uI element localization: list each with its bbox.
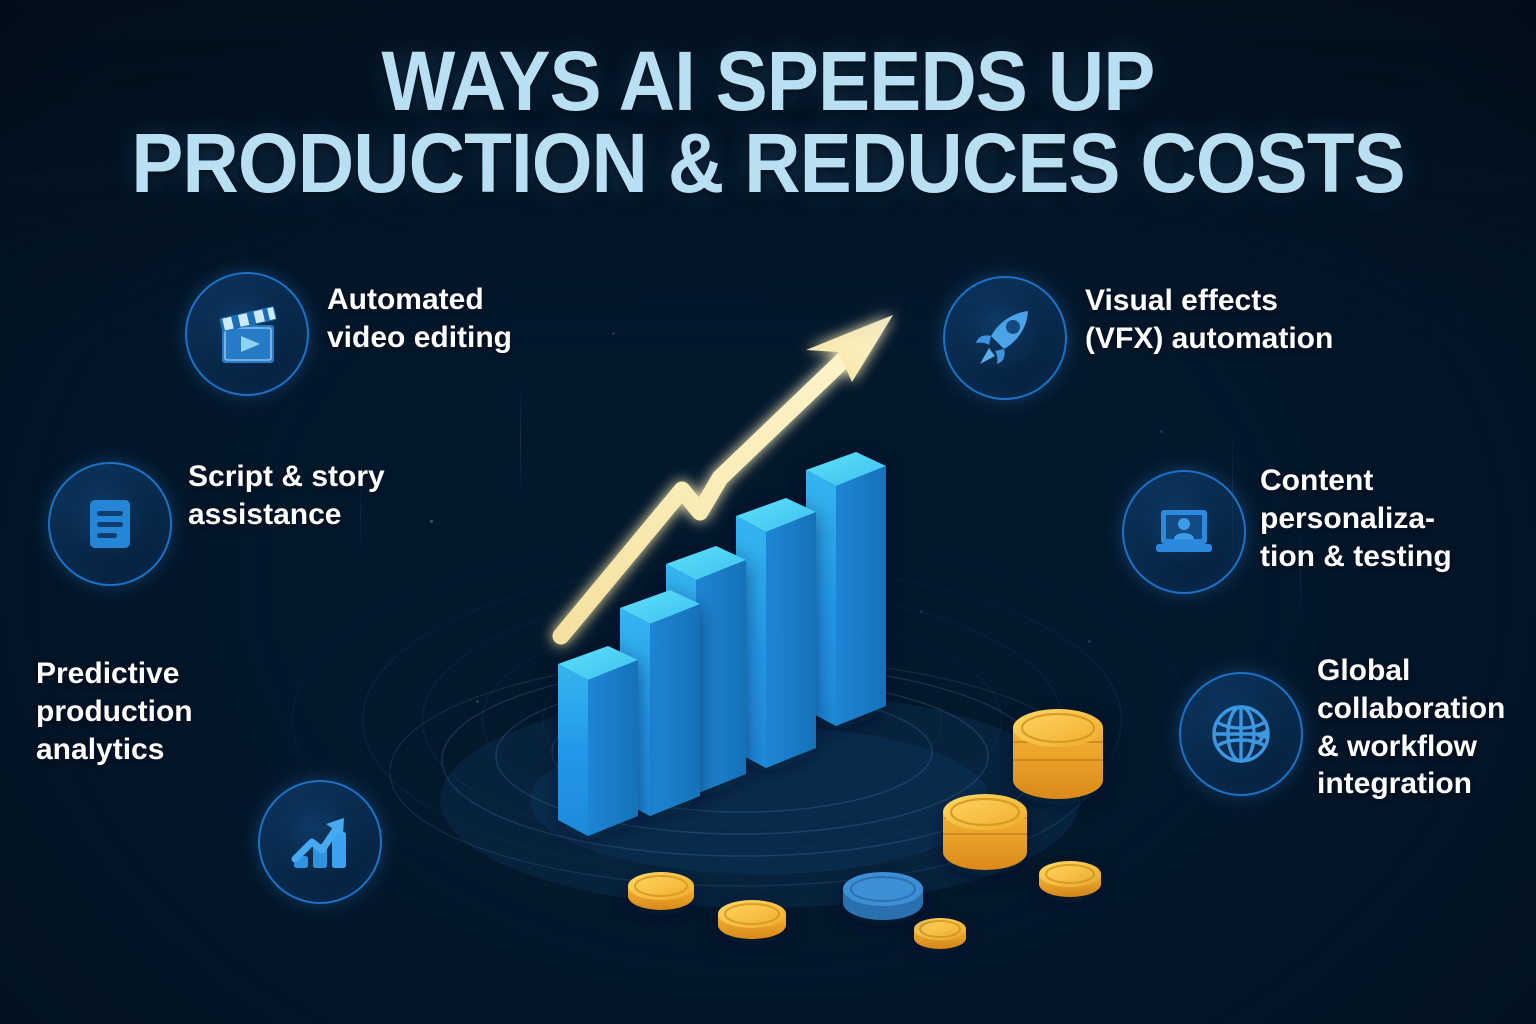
title-line-1: WAYS AI SPEEDS UP [54, 40, 1482, 122]
globe-arrow-icon [1179, 672, 1303, 796]
feature-predictive-production-analytics[interactable]: Predictive production analytics [36, 655, 382, 904]
feature-label: Content personaliza- tion & testing [1260, 462, 1510, 575]
feature-label: Automated video editing [327, 281, 512, 357]
feature-label: Script & story assistance [188, 458, 385, 534]
feature-global-collaboration-workflow[interactable]: Global collaboration & workflow integrat… [1179, 672, 1536, 803]
clapperboard-icon [185, 272, 309, 396]
laptop-person-icon [1122, 470, 1246, 594]
document-icon [48, 462, 172, 586]
feature-label: Global collaboration & workflow integrat… [1317, 652, 1536, 803]
feature-label: Visual effects (VFX) automation [1085, 282, 1333, 358]
infographic-canvas: WAYS AI SPEEDS UP PRODUCTION & REDUCES C… [0, 0, 1536, 1024]
feature-label: Predictive production analytics [36, 655, 193, 768]
feature-automated-video-editing[interactable]: Automated video editing [185, 272, 512, 396]
title-line-2: PRODUCTION & REDUCES COSTS [54, 122, 1482, 204]
page-title: WAYS AI SPEEDS UP PRODUCTION & REDUCES C… [54, 40, 1482, 205]
feature-content-personalization-testing[interactable]: Content personaliza- tion & testing [1122, 470, 1510, 594]
feature-script-story-assistance[interactable]: Script & story assistance [48, 462, 385, 586]
growth-chart-icon [258, 780, 382, 904]
feature-visual-effects-automation[interactable]: Visual effects (VFX) automation [943, 276, 1333, 400]
rocket-icon [943, 276, 1067, 400]
